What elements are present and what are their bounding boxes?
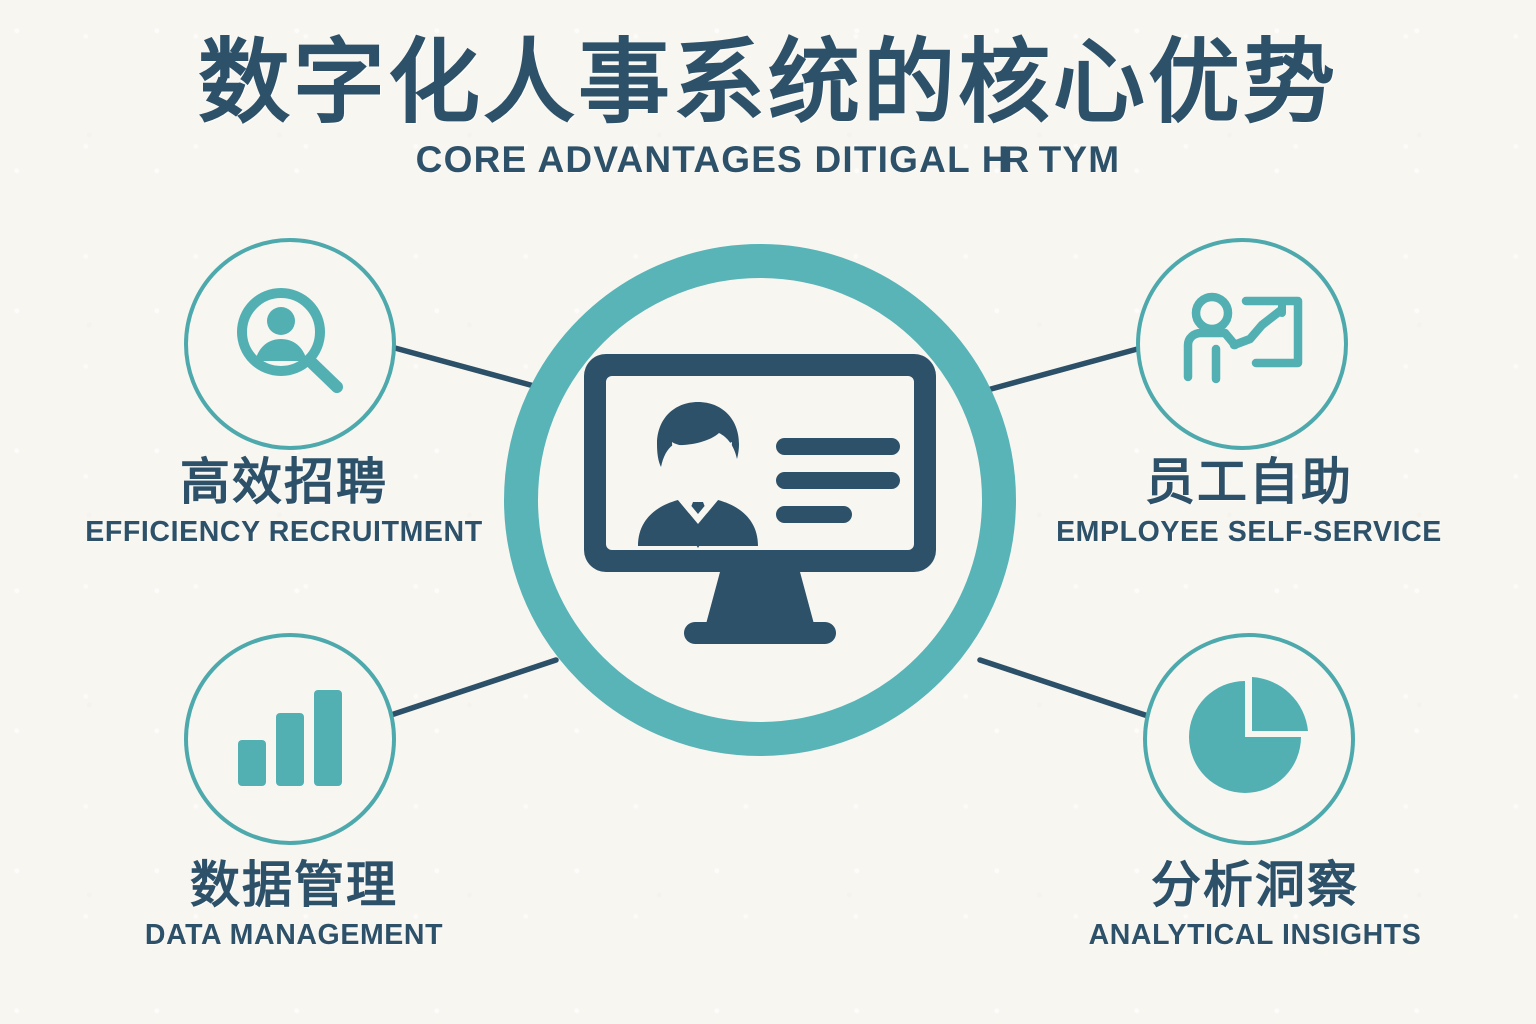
bar-1 xyxy=(238,740,266,786)
bar-2 xyxy=(276,713,304,786)
infographic-canvas: 数字化人事系统的核心优势 CORE ADVANTAGES DITIGAL HR … xyxy=(0,0,1536,1024)
label-cn-analytical-insights: 分析洞察 xyxy=(1020,858,1490,913)
label-en-data-management: DATA MANAGEMENT xyxy=(59,919,529,952)
profile-line-1 xyxy=(776,438,900,455)
label-group-data-management: 数据管理 DATA MANAGEMENT xyxy=(59,858,529,952)
icon-bubble-recruitment[interactable] xyxy=(184,238,396,450)
label-group-self-service: 员工自助 EMPLOYEE SELF-SERVICE xyxy=(1014,455,1484,549)
label-en-self-service: EMPLOYEE SELF-SERVICE xyxy=(1014,516,1484,549)
label-cn-self-service: 员工自助 xyxy=(1014,455,1484,510)
connector-top-right xyxy=(980,345,1152,392)
label-cn-recruitment: 高效招聘 xyxy=(49,455,519,510)
pie-chart-icon xyxy=(1185,675,1313,803)
label-cn-data-management: 数据管理 xyxy=(59,858,529,913)
icon-bubble-analytical-insights[interactable] xyxy=(1143,633,1355,845)
label-group-recruitment: 高效招聘 EFFICIENCY RECRUITMENT xyxy=(49,455,519,549)
label-en-analytical-insights: ANALYTICAL INSIGHTS xyxy=(1020,919,1490,952)
icon-bubble-self-service[interactable] xyxy=(1136,238,1348,450)
label-en-recruitment: EFFICIENCY RECRUITMENT xyxy=(49,516,519,549)
icon-bubble-data-management[interactable] xyxy=(184,633,396,845)
connector-bottom-left xyxy=(388,660,556,716)
employee-profile-monitor-icon xyxy=(580,350,940,650)
center-hub-ring xyxy=(504,244,1016,756)
pie-slice-quarter xyxy=(1252,677,1308,731)
person-magnifier-icon xyxy=(225,279,355,409)
label-group-analytical-insights: 分析洞察 ANALYTICAL INSIGHTS xyxy=(1020,858,1490,952)
profile-line-2 xyxy=(776,472,900,489)
bar-3 xyxy=(314,690,342,786)
profile-line-3 xyxy=(776,506,852,523)
connector-bottom-right xyxy=(980,660,1148,716)
person-presentation-board-icon xyxy=(1172,279,1312,409)
bar-chart-icon xyxy=(230,684,350,794)
